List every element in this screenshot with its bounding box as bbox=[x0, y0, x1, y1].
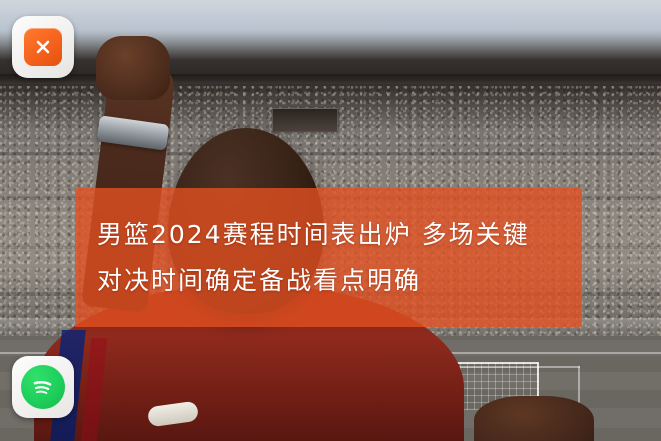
screenshot-root: 男篮2024赛程时间表出炉 多场关键 对决时间确定备战看点明确 bbox=[0, 0, 661, 441]
headline-line-2: 对决时间确定备战看点明确 bbox=[97, 258, 560, 304]
spotify-icon[interactable] bbox=[21, 365, 65, 409]
scoreboard bbox=[272, 108, 338, 132]
spotify-button[interactable] bbox=[12, 356, 74, 418]
close-button[interactable] bbox=[12, 16, 74, 78]
close-icon[interactable] bbox=[24, 28, 62, 66]
headline-banner: 男篮2024赛程时间表出炉 多场关键 对决时间确定备战看点明确 bbox=[75, 188, 582, 327]
headline-line-1: 男篮2024赛程时间表出炉 多场关键 bbox=[97, 212, 560, 258]
spectator-fist bbox=[96, 36, 170, 100]
spectator-hand bbox=[474, 396, 594, 441]
